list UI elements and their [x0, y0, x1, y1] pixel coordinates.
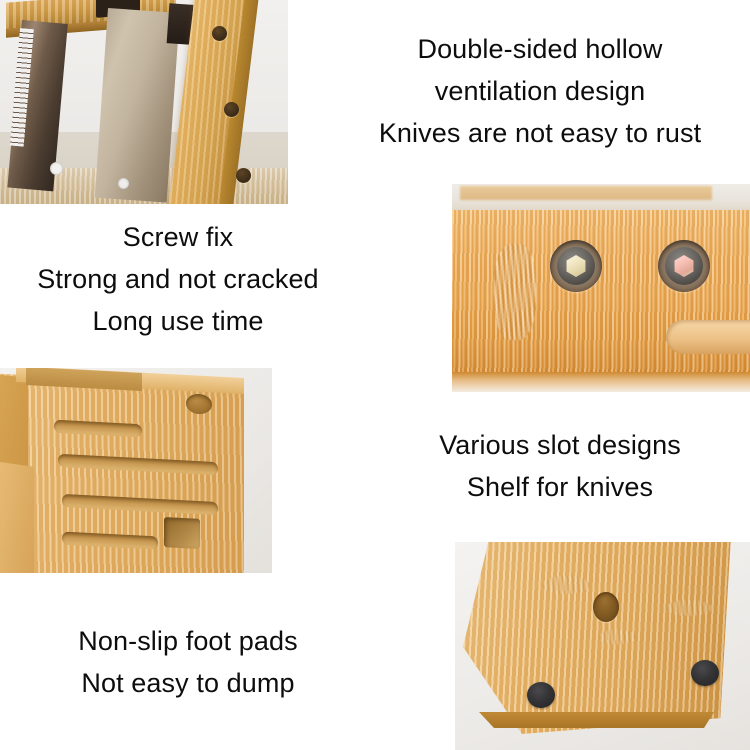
ventilation-line-2: ventilation design: [330, 70, 750, 112]
feature-text-slot-designs: Various slot designs Shelf for knives: [372, 424, 748, 508]
ventilation-line-3: Knives are not easy to rust: [330, 112, 750, 154]
feature-text-screw-fix: Screw fix Strong and not cracked Long us…: [0, 216, 356, 342]
plank-hole-bottom: [236, 168, 251, 183]
base-front-edge: [469, 712, 719, 728]
grain-mark: [599, 630, 635, 644]
bamboo-base-underside: [463, 542, 731, 734]
non-slip-pad-left: [527, 682, 555, 708]
hex-head-icon: [565, 255, 587, 277]
grain-mark: [667, 600, 711, 616]
photo-knives-in-block: [0, 0, 288, 204]
plank-hole-middle: [224, 102, 239, 117]
feature-text-ventilation: Double-sided hollow ventilation design K…: [330, 28, 750, 154]
infographic-page: Double-sided hollow ventilation design K…: [0, 0, 750, 750]
hex-screw-left: [550, 240, 602, 292]
grain-mark: [543, 576, 589, 594]
foot-pads-line-1: Non-slip foot pads: [0, 620, 376, 662]
bread-knife-blade-hole: [50, 162, 63, 175]
rounded-slot-edge: [666, 320, 750, 354]
square-slot-hole: [164, 517, 200, 549]
plank-hole-top: [212, 26, 227, 41]
cleaver-blade-hole: [118, 178, 129, 189]
feature-text-foot-pads: Non-slip foot pads Not easy to dump: [0, 620, 376, 704]
ventilation-line-1: Double-sided hollow: [330, 28, 750, 70]
photo-upper-background: [452, 184, 750, 210]
slots-line-1: Various slot designs: [372, 424, 748, 466]
bamboo-grain-knot: [494, 244, 536, 340]
drilled-hole: [593, 592, 619, 622]
non-slip-pad-right: [691, 660, 719, 686]
bamboo-block-front-face: [0, 461, 34, 573]
screw-fix-line-1: Screw fix: [0, 216, 356, 258]
screw-fix-line-3: Long use time: [0, 300, 356, 342]
slots-line-2: Shelf for knives: [372, 466, 748, 508]
photo-foot-pads: [455, 542, 750, 750]
photo-screw-macro: [452, 184, 750, 392]
foot-pads-line-2: Not easy to dump: [0, 662, 376, 704]
screw-fix-line-2: Strong and not cracked: [0, 258, 356, 300]
hex-screw-right: [658, 240, 710, 292]
hex-head-icon: [673, 255, 695, 277]
photo-lower-edge: [452, 372, 750, 392]
blurred-bamboo-edge: [460, 186, 712, 200]
photo-slot-body: [0, 368, 272, 573]
